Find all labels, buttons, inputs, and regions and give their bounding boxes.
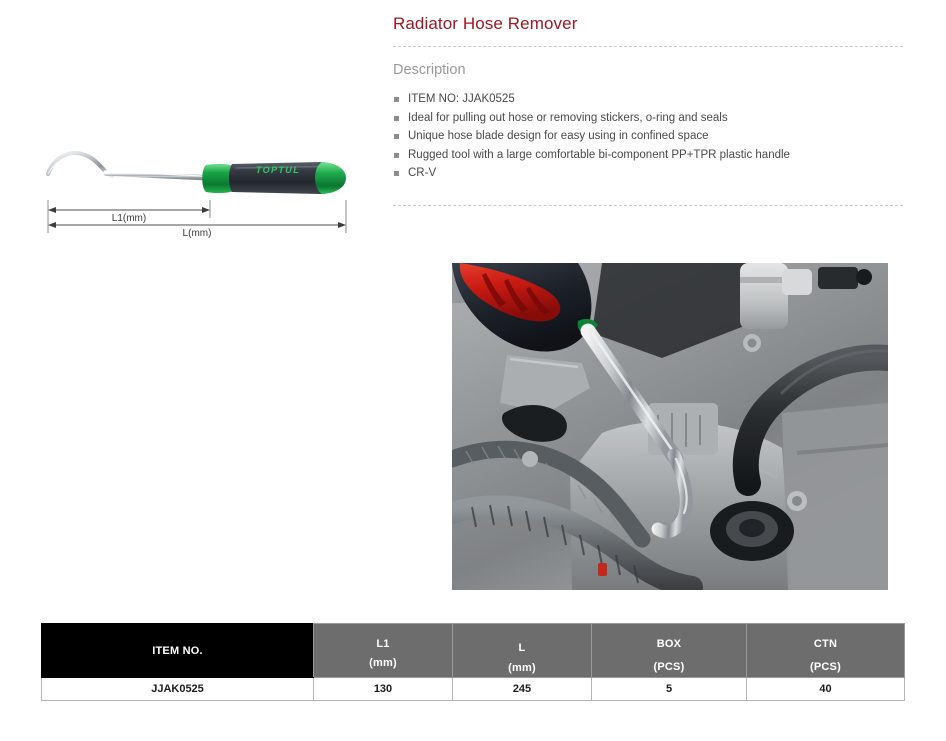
column-header-ctn: CTN (PCS) (747, 624, 905, 678)
table-header-row: ITEM NO. L1 (mm) L (mm) BOX (PCS) (42, 624, 905, 678)
arrow-head-l1-left (48, 207, 56, 213)
list-item: Unique hose blade design for easy using … (393, 127, 903, 146)
cell-ctn: 40 (747, 678, 905, 701)
column-header-box-unit: (PCS) (592, 651, 746, 674)
table-header: ITEM NO. L1 (mm) L (mm) BOX (PCS) (42, 624, 905, 678)
column-header-item-no: ITEM NO. (42, 624, 314, 678)
photo-vignette (452, 263, 888, 590)
arrow-head-l-right (338, 222, 346, 228)
cell-box: 5 (592, 678, 747, 701)
column-header-l-label: L (453, 626, 591, 655)
column-header-l-unit: (mm) (453, 655, 591, 675)
list-item: Ideal for pulling out hose or removing s… (393, 109, 903, 128)
cell-item-no: JJAK0525 (42, 678, 314, 701)
feature-list: ITEM NO: JJAK0525 Ideal for pulling out … (393, 79, 903, 183)
column-header-l: L (mm) (453, 624, 592, 678)
specification-table-wrapper: ITEM NO. L1 (mm) L (mm) BOX (PCS) (41, 623, 904, 701)
table-body: JJAK0525 130 245 5 40 (42, 678, 905, 701)
product-detail-page: TOPTUL L1(mm) L(mm) Radiator Hose Remove… (0, 0, 946, 741)
column-header-box: BOX (PCS) (592, 624, 747, 678)
list-item: Rugged tool with a large comfortable bi-… (393, 146, 903, 165)
cell-l1: 130 (314, 678, 453, 701)
description-heading: Description (393, 47, 903, 79)
handle-end-cap-face (315, 162, 333, 194)
arrow-head-l-left (48, 222, 56, 228)
column-header-item-no-label: ITEM NO. (42, 644, 313, 658)
application-photo (452, 263, 888, 590)
specification-table: ITEM NO. L1 (mm) L (mm) BOX (PCS) (41, 623, 905, 701)
divider-bottom (393, 205, 903, 206)
table-row: JJAK0525 130 245 5 40 (42, 678, 905, 701)
product-info-column: Radiator Hose Remover Description ITEM N… (393, 0, 903, 206)
product-diagram: TOPTUL L1(mm) L(mm) (40, 128, 360, 243)
application-photo-svg (452, 263, 888, 590)
column-header-l1: L1 (mm) (314, 624, 453, 678)
dimension-label-l: L(mm) (183, 228, 212, 239)
product-image-panel: TOPTUL L1(mm) L(mm) (0, 0, 390, 600)
column-header-ctn-unit: (PCS) (747, 651, 904, 674)
page-title: Radiator Hose Remover (393, 0, 903, 35)
cell-l: 245 (453, 678, 592, 701)
list-item: ITEM NO: JJAK0525 (393, 90, 903, 109)
column-header-l1-unit: (mm) (314, 651, 452, 670)
brand-logo-text: TOPTUL (256, 165, 300, 175)
column-header-ctn-label: CTN (747, 627, 904, 651)
column-header-box-label: BOX (592, 627, 746, 651)
column-header-l1-label: L1 (314, 632, 452, 651)
list-item: CR-V (393, 164, 903, 183)
arrow-head-l1-right (202, 207, 210, 213)
tool-illustration-svg: TOPTUL L1(mm) L(mm) (40, 128, 360, 243)
dimension-label-l1: L1(mm) (112, 213, 146, 224)
